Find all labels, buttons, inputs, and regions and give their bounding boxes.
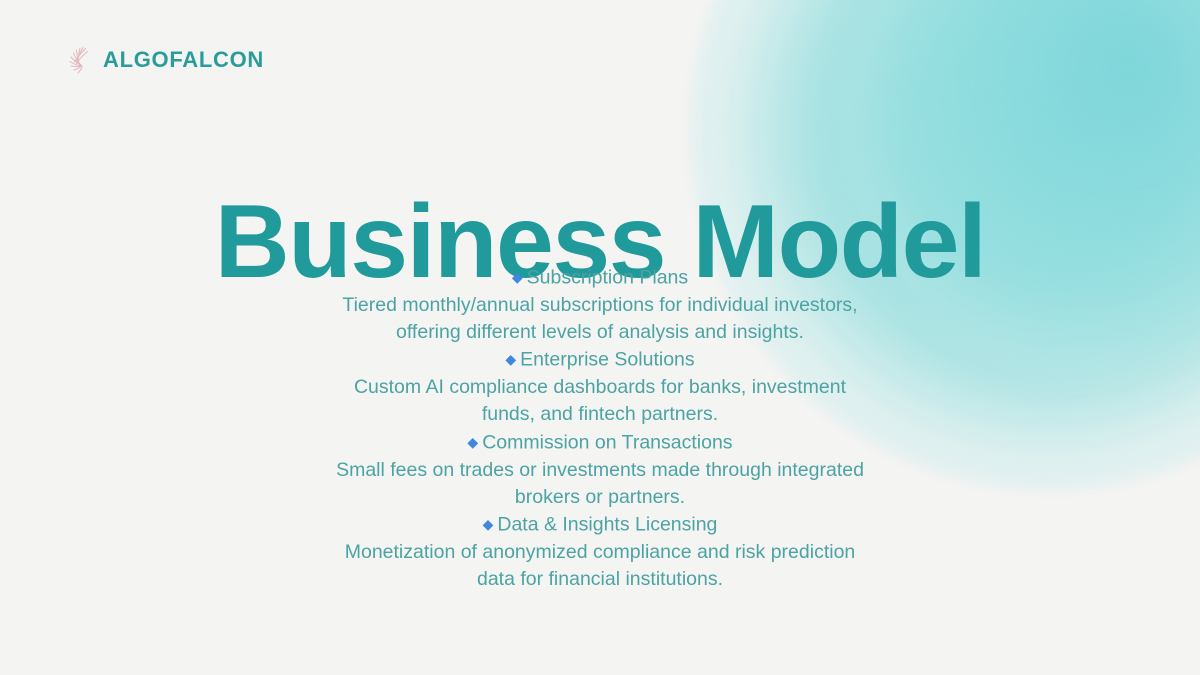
body-line: data for financial institutions. (290, 566, 910, 593)
list-item: ◆Enterprise Solutions (290, 346, 910, 374)
brand-lockup: ALGOFALCON (64, 44, 264, 76)
list-item-label: Enterprise Solutions (520, 349, 695, 371)
diamond-bullet-icon: ◆ (512, 269, 523, 285)
body-line: funds, and fintech partners. (290, 401, 910, 428)
body-line: offering different levels of analysis an… (290, 319, 910, 346)
diamond-bullet-icon: ◆ (467, 434, 478, 450)
list-item: ◆Data & Insights Licensing (290, 511, 910, 539)
falcon-logo-icon (64, 44, 94, 76)
list-item: ◆Subscription Plans (290, 264, 910, 292)
body-line: Tiered monthly/annual subscriptions for … (290, 292, 910, 319)
body-line: Monetization of anonymized compliance an… (290, 539, 910, 566)
slide-canvas: ALGOFALCON Business Model ◆Subscription … (0, 0, 1200, 675)
body-line: Small fees on trades or investments made… (290, 457, 910, 484)
list-item-label: Commission on Transactions (482, 431, 732, 453)
diamond-bullet-icon: ◆ (505, 351, 516, 367)
list-item: ◆Commission on Transactions (290, 429, 910, 457)
body-line: Custom AI compliance dashboards for bank… (290, 374, 910, 401)
body-line: brokers or partners. (290, 484, 910, 511)
content-body: ◆Subscription Plans Tiered monthly/annua… (290, 264, 910, 594)
diamond-bullet-icon: ◆ (483, 516, 494, 532)
brand-name: ALGOFALCON (103, 49, 264, 71)
list-item-label: Subscription Plans (527, 267, 689, 289)
list-item-label: Data & Insights Licensing (497, 514, 717, 536)
